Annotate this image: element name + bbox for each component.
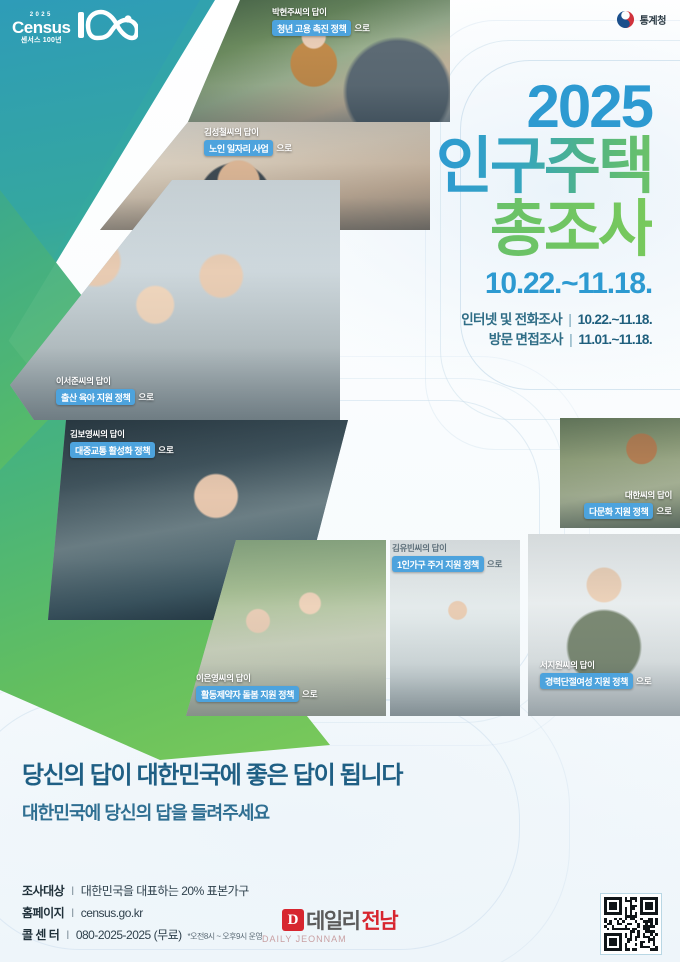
slogan-secondary: 대한민국에 당신의 답을 들려주세요 bbox=[22, 799, 402, 825]
footer-label: 콜 센 터 bbox=[22, 928, 59, 942]
census-100-icon bbox=[76, 8, 138, 48]
footer-label: 조사대상 bbox=[22, 884, 64, 898]
qr-code[interactable] bbox=[600, 893, 662, 955]
census-logo-word: Census bbox=[12, 19, 70, 36]
footer-hours-note: *오전8시 ~ 오후9시 운영 bbox=[187, 932, 262, 941]
caption-policy: 활동제약자 돌봄 지원 정책 bbox=[196, 686, 299, 702]
schedule-label: 방문 면접조사 bbox=[489, 332, 563, 347]
caption-seo-jiwon: 서지원씨의 답이 경력단절여성 지원 정책 으로 bbox=[540, 659, 652, 689]
schedule-value: 11.01.~11.18. bbox=[578, 332, 652, 347]
caption-kim-yubin: 김유빈씨의 답이 1인가구 주거 지원 정책 으로 bbox=[392, 542, 502, 572]
schedule-row: 방문 면접조사 | 11.01.~11.18. bbox=[436, 330, 652, 350]
caption-park-hyunju: 박현주씨의 답이 청년 고용 촉진 정책 으로 bbox=[272, 6, 370, 36]
caption-policy: 다문화 지원 정책 bbox=[584, 503, 653, 519]
census-poster: 박현주씨의 답이 청년 고용 촉진 정책 으로 김성철씨의 답이 노인 일자리 … bbox=[0, 0, 680, 962]
footer-separator: I bbox=[66, 928, 69, 942]
footer-row-callcenter: 콜 센 터 I 080-2025-2025 (무료) *오전8시 ~ 오후9시 … bbox=[22, 924, 262, 946]
watermark-part1: 데일리 bbox=[306, 905, 359, 935]
caption-suffix: 으로 bbox=[656, 505, 672, 517]
caption-lee-seojun: 이서준씨의 답이 출산 육아 지원 정책 으로 bbox=[56, 375, 154, 405]
caption-suffix: 으로 bbox=[138, 391, 154, 403]
schedule-list: 인터넷 및 전화조사 | 10.22.~11.18. 방문 면접조사 | 11.… bbox=[436, 310, 652, 349]
caption-lee-eunyoung: 이은영씨의 답이 활동제약자 돌봄 지원 정책 으로 bbox=[196, 672, 318, 702]
watermark-mark-icon: D bbox=[282, 909, 304, 931]
census-logo-korean: 센서스 100년 bbox=[12, 37, 70, 44]
schedule-separator: | bbox=[569, 332, 572, 347]
caption-person: 이서준씨의 답이 bbox=[56, 375, 154, 387]
schedule-separator: | bbox=[568, 312, 571, 327]
footer-row-website: 홈페이지 I census.go.kr bbox=[22, 902, 262, 924]
caption-policy: 노인 일자리 사업 bbox=[204, 140, 273, 156]
qr-code-matrix bbox=[604, 897, 658, 951]
schedule-label: 인터넷 및 전화조사 bbox=[461, 312, 562, 327]
caption-daehan: 대한씨의 답이 다문화 지원 정책 으로 bbox=[584, 489, 672, 519]
schedule-row: 인터넷 및 전화조사 | 10.22.~11.18. bbox=[436, 310, 652, 330]
caption-person: 서지원씨의 답이 bbox=[540, 659, 652, 671]
caption-suffix: 으로 bbox=[276, 142, 292, 154]
footer-value: 대한민국을 대표하는 20% 표본가구 bbox=[81, 884, 249, 898]
caption-person: 박현주씨의 답이 bbox=[272, 6, 370, 18]
schedule-value: 10.22.~11.18. bbox=[578, 312, 652, 327]
footer-separator: I bbox=[71, 884, 74, 898]
caption-kim-seongcheol: 김성철씨의 답이 노인 일자리 사업 으로 bbox=[204, 126, 292, 156]
title-year: 2025 bbox=[436, 78, 652, 135]
footer-label: 홈페이지 bbox=[22, 906, 64, 920]
caption-policy: 1인가구 주거 지원 정책 bbox=[392, 556, 484, 572]
footer-info: 조사대상 I 대한민국을 대표하는 20% 표본가구 홈페이지 I census… bbox=[22, 880, 262, 947]
footer-phone-number[interactable]: 080-2025-2025 (무료) bbox=[76, 928, 182, 942]
main-title-block: 2025 인구주택 총조사 10.22.~11.18. 인터넷 및 전화조사 |… bbox=[436, 78, 652, 350]
slogan-block: 당신의 답이 대한민국에 좋은 답이 됩니다 대한민국에 당신의 답을 들려주세… bbox=[22, 762, 402, 825]
footer-row-target: 조사대상 I 대한민국을 대표하는 20% 표본가구 bbox=[22, 880, 262, 902]
taegeuk-icon bbox=[616, 10, 635, 29]
government-logo: 통계청 bbox=[616, 10, 666, 29]
caption-person: 김성철씨의 답이 bbox=[204, 126, 292, 138]
slogan-primary: 당신의 답이 대한민국에 좋은 답이 됩니다 bbox=[22, 762, 402, 791]
caption-suffix: 으로 bbox=[354, 22, 370, 34]
watermark-part2: 전남 bbox=[361, 905, 397, 935]
footer-separator: I bbox=[71, 906, 74, 920]
footer-website-link[interactable]: census.go.kr bbox=[81, 906, 143, 920]
caption-suffix: 으로 bbox=[487, 558, 503, 570]
watermark-logo: D 데일리 전남 bbox=[282, 905, 397, 935]
caption-policy: 출산 육아 지원 정책 bbox=[56, 389, 135, 405]
caption-person: 대한씨의 답이 bbox=[584, 489, 672, 501]
caption-policy: 청년 고용 촉진 정책 bbox=[272, 20, 351, 36]
title-line2: 총조사 bbox=[436, 198, 652, 261]
title-line1: 인구주택 bbox=[436, 135, 652, 198]
agency-name: 통계청 bbox=[640, 12, 666, 27]
caption-person: 김보영씨의 답이 bbox=[70, 428, 174, 440]
caption-suffix: 으로 bbox=[636, 675, 652, 687]
caption-policy: 경력단절여성 지원 정책 bbox=[540, 673, 633, 689]
caption-policy: 대중교통 활성화 정책 bbox=[70, 442, 155, 458]
caption-person: 김유빈씨의 답이 bbox=[392, 542, 502, 554]
census-logo: 2025 Census 센서스 100년 bbox=[12, 8, 138, 48]
anniversary-100-icon bbox=[76, 8, 138, 42]
watermark-subtext: DAILY JEONNAM bbox=[262, 934, 347, 944]
caption-suffix: 으로 bbox=[302, 688, 318, 700]
caption-suffix: 으로 bbox=[158, 444, 174, 456]
caption-person: 이은영씨의 답이 bbox=[196, 672, 318, 684]
caption-kim-boyoung: 김보영씨의 답이 대중교통 활성화 정책 으로 bbox=[70, 428, 174, 458]
title-dates: 10.22.~11.18. bbox=[436, 267, 652, 300]
